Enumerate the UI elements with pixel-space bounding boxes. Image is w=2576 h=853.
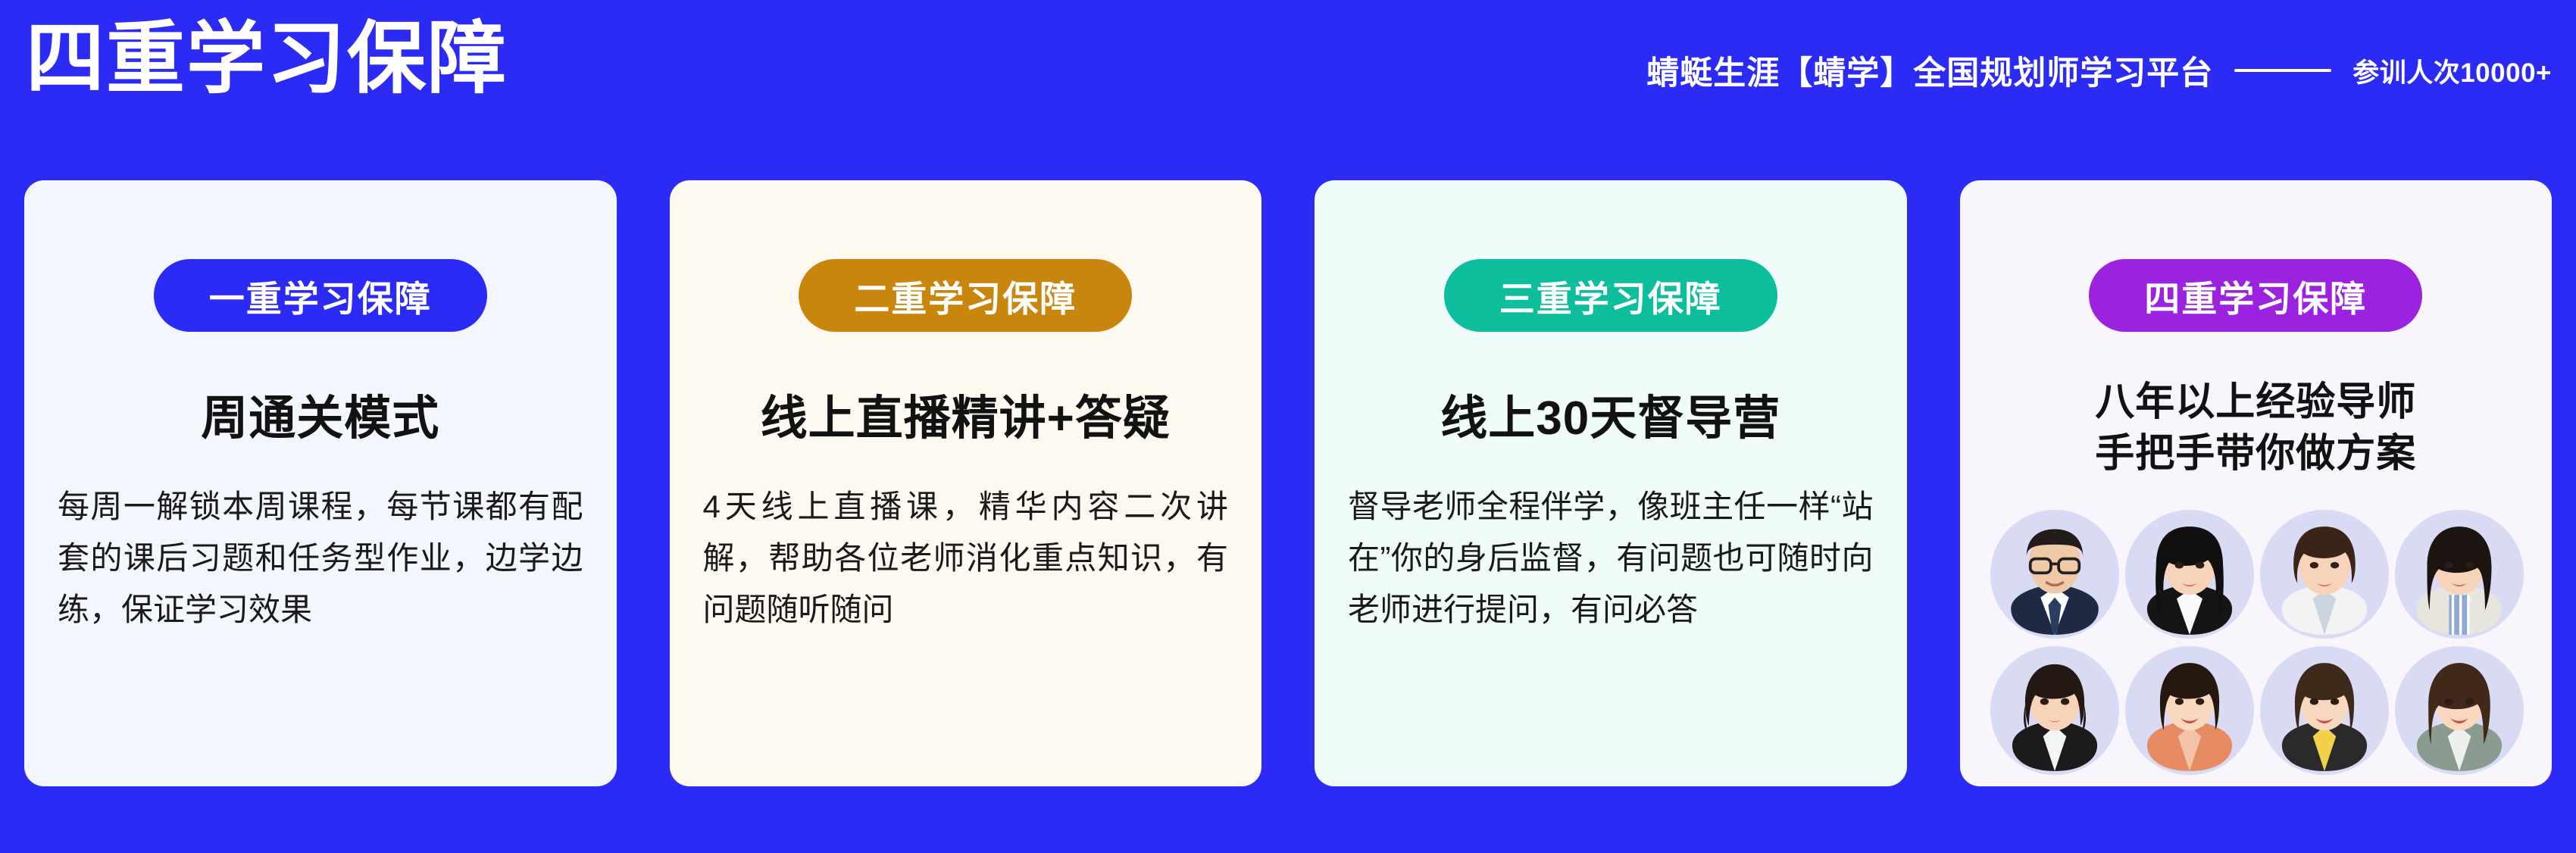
card-2-title: 线上直播精讲+答疑 — [761, 391, 1171, 446]
card-2-badge: 二重学习保障 — [799, 259, 1132, 332]
guarantee-card-2[interactable]: 二重学习保障 线上直播精讲+答疑 4天线上直播课，精华内容二次讲解，帮助各位老师… — [670, 180, 1262, 786]
instructor-avatar-2 — [2125, 510, 2254, 639]
card-4-title: 八年以上经验导师 手把手带你做方案 — [2095, 377, 2416, 480]
instructor-avatar-4 — [2395, 510, 2524, 639]
instructor-avatar-1 — [1990, 510, 2119, 639]
card-4-title-line-2: 手把手带你做方案 — [2095, 429, 2416, 480]
instructor-avatar-5 — [1990, 646, 2119, 775]
card-3-badge: 三重学习保障 — [1444, 259, 1777, 332]
instructor-avatar-grid — [1990, 510, 2521, 775]
promo-banner: 四重学习保障 蜻蜓生涯【蜻学】全国规划师学习平台 参训人次10000+ 一重学习… — [0, 0, 2576, 853]
instructor-avatar-3 — [2260, 510, 2389, 639]
page-title: 四重学习保障 — [26, 18, 508, 101]
card-3-title: 线上30天督导营 — [1440, 391, 1780, 446]
guarantee-card-4[interactable]: 四重学习保障 八年以上经验导师 手把手带你做方案 — [1960, 180, 2553, 786]
attendee-count-badge: 参训人次10000+ — [2352, 52, 2552, 90]
platform-name: 蜻蜓生涯【蜻学】全国规划师学习平台 — [1646, 47, 2213, 94]
header-right-group: 蜻蜓生涯【蜻学】全国规划师学习平台 参训人次10000+ — [1646, 47, 2552, 94]
card-4-title-line-1: 八年以上经验导师 — [2095, 377, 2416, 429]
guarantee-card-list: 一重学习保障 周通关模式 每周一解锁本周课程，每节课都有配套的课后习题和任务型作… — [24, 180, 2552, 786]
card-1-body: 每周一解锁本周课程，每节课都有配套的课后习题和任务型作业，边学边练，保证学习效果 — [55, 481, 586, 636]
instructor-avatar-8 — [2395, 646, 2524, 775]
card-1-title: 周通关模式 — [201, 391, 439, 446]
instructor-avatar-6 — [2125, 646, 2254, 775]
card-4-badge: 四重学习保障 — [2089, 259, 2422, 332]
banner-header: 四重学习保障 蜻蜓生涯【蜻学】全国规划师学习平台 参训人次10000+ — [0, 0, 2576, 180]
guarantee-card-1[interactable]: 一重学习保障 周通关模式 每周一解锁本周课程，每节课都有配套的课后习题和任务型作… — [24, 180, 617, 786]
instructor-avatar-7 — [2260, 646, 2389, 775]
card-2-body: 4天线上直播课，精华内容二次讲解，帮助各位老师消化重点知识，有问题随听随问 — [700, 481, 1232, 636]
guarantee-card-3[interactable]: 三重学习保障 线上30天督导营 督导老师全程伴学，像班主任一样“站在”你的身后监… — [1315, 180, 1907, 786]
divider-line — [2234, 69, 2331, 72]
card-3-body: 督导老师全程伴学，像班主任一样“站在”你的身后监督，有问题也可随时向老师进行提问… — [1345, 481, 1877, 636]
card-1-badge: 一重学习保障 — [154, 259, 487, 332]
